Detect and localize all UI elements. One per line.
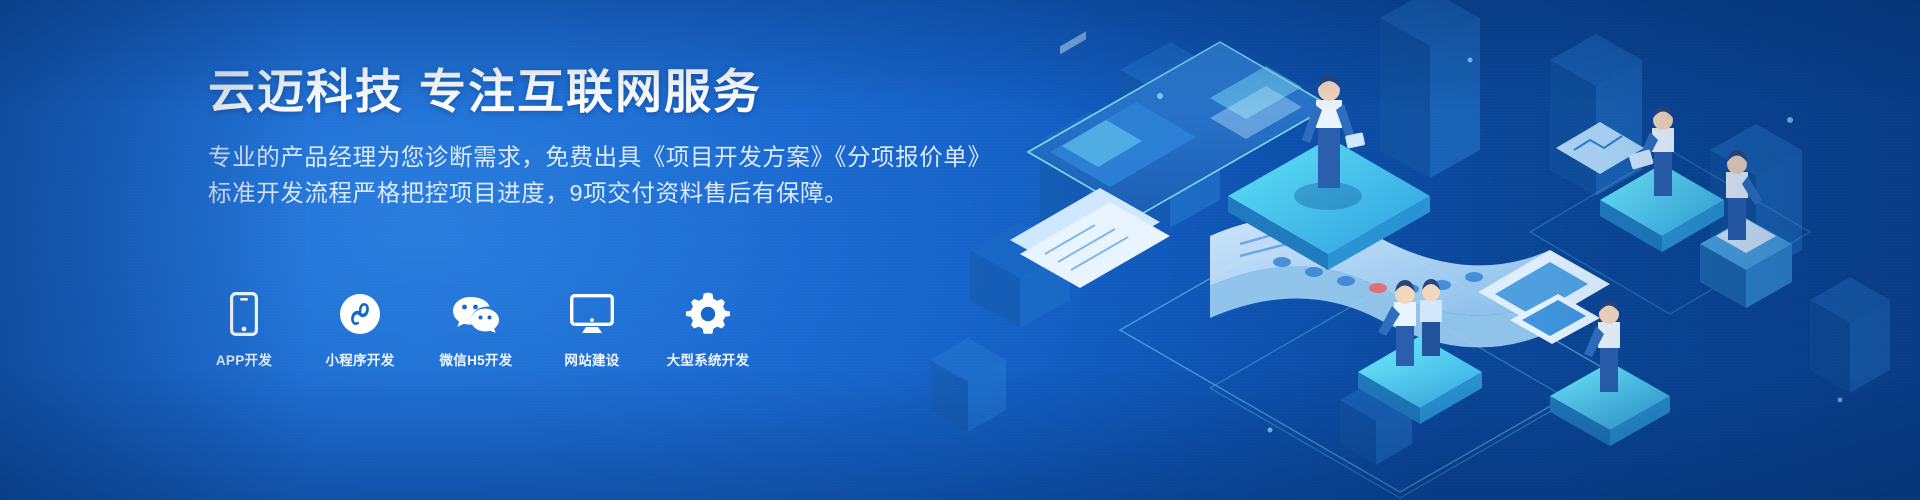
service-item-large-system[interactable]: 大型系统开发: [669, 292, 747, 369]
mini-program-icon: [339, 292, 381, 336]
service-label-miniprogram: 小程序开发: [326, 349, 395, 369]
wechat-icon: [452, 292, 500, 336]
banner-subtitle: 专业的产品经理为您诊断需求，免费出具《项目开发方案》《分项报价单》 标准开发流程…: [208, 140, 992, 211]
service-icon-row: APP开发 小程序开发: [205, 292, 747, 369]
service-item-app[interactable]: APP开发: [205, 292, 283, 369]
service-label-large-system: 大型系统开发: [667, 349, 750, 369]
banner-copy: 云迈科技 专注互联网服务 专业的产品经理为您诊断需求，免费出具《项目开发方案》《…: [208, 62, 992, 212]
service-item-website[interactable]: 网站建设: [553, 292, 631, 369]
gear-icon: [686, 292, 730, 336]
service-label-app: APP开发: [216, 349, 272, 369]
service-label-wechat-h5: 微信H5开发: [439, 349, 512, 369]
page-title: 云迈科技 专注互联网服务: [208, 62, 992, 122]
service-label-website: 网站建设: [564, 349, 619, 369]
subtitle-line-1: 专业的产品经理为您诊断需求，免费出具《项目开发方案》《分项报价单》: [208, 140, 992, 176]
monitor-icon: [570, 292, 614, 336]
subtitle-line-2: 标准开发流程严格把控项目进度，9项交付资料售后有保障。: [208, 176, 992, 212]
service-item-wechat-h5[interactable]: 微信H5开发: [437, 292, 515, 369]
service-item-miniprogram[interactable]: 小程序开发: [321, 292, 399, 369]
illustration-isometric-tech-team: [910, 0, 1920, 500]
mobile-phone-icon: [230, 292, 258, 336]
hero-banner: 云迈科技 专注互联网服务 专业的产品经理为您诊断需求，免费出具《项目开发方案》《…: [0, 0, 1920, 500]
